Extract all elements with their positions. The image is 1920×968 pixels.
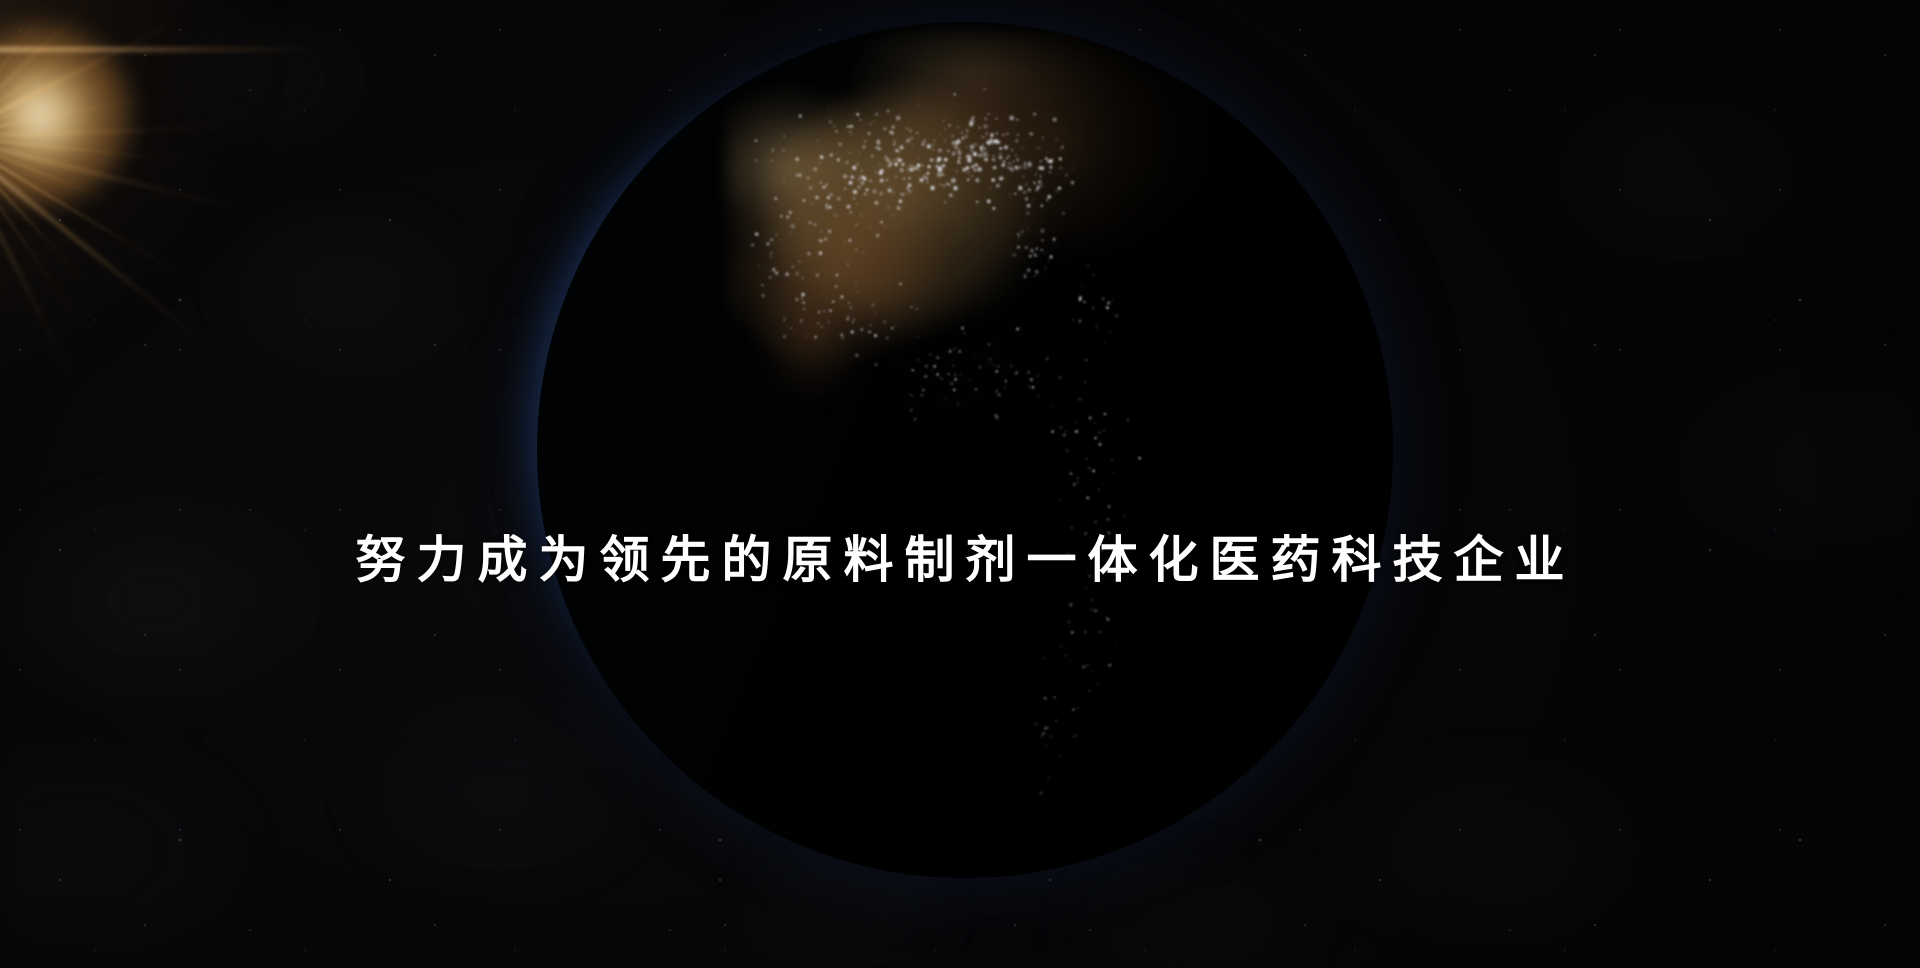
hero-banner-stage: 努力成为领先的原料制剂一体化医药科技企业 xyxy=(0,0,1920,968)
earth-sphere xyxy=(537,22,1393,878)
sunrise-terminator-glow xyxy=(537,22,1393,878)
earth-globe xyxy=(537,22,1393,878)
